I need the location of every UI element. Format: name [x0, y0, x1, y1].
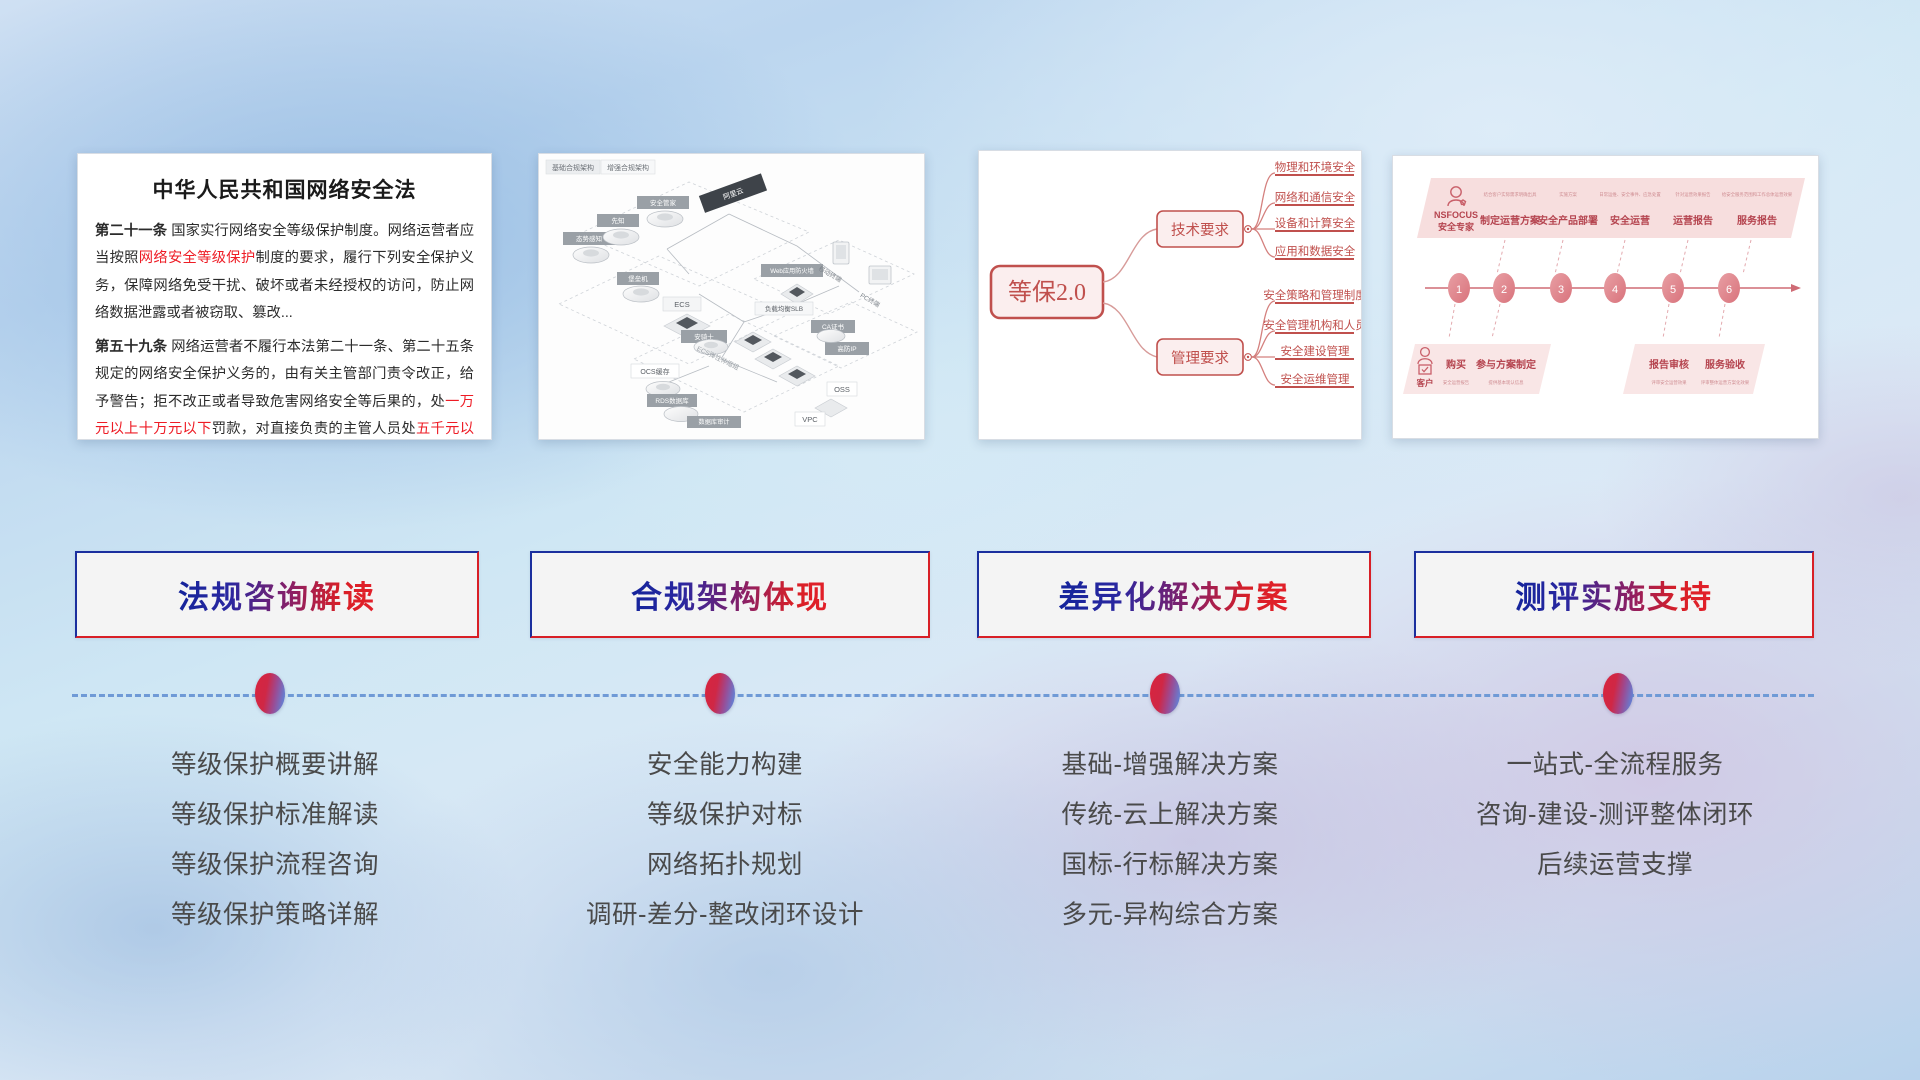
- law-article-59: 第五十九条 网络运营者不履行本法第二十一条、第二十五条规定的网络安全保护义务的，…: [95, 334, 474, 440]
- list-item: 安全能力构建: [505, 740, 945, 790]
- svg-text:ECS: ECS: [674, 300, 689, 309]
- article-21-label: 第二十一条: [95, 223, 167, 239]
- top-caption-5: 给安全服务范围和工作总体运营效果: [1722, 191, 1793, 198]
- svg-text:RDS数据库: RDS数据库: [655, 396, 689, 405]
- card-cybersecurity-law[interactable]: 中华人民共和国网络安全法 第二十一条 国家实行网络安全等级保护制度。网络运营者应…: [77, 153, 492, 440]
- detail-column-4: 一站式-全流程服务 咨询-建设-测评整体闭环 后续运营支撑: [1400, 740, 1830, 890]
- architecture-diagram: 基础合规架构 增强合规架构 阿里云 态: [539, 154, 924, 439]
- svg-text:先知: 先知: [612, 216, 625, 225]
- timeline-dot-2[interactable]: [705, 673, 735, 714]
- mindmap-leaf-policy: 安全策略和管理制度: [1263, 288, 1361, 302]
- svg-text:负载均衡SLB: 负载均衡SLB: [765, 304, 803, 313]
- list-item: 咨询-建设-测评整体闭环: [1400, 790, 1830, 840]
- list-item: 一站式-全流程服务: [1400, 740, 1830, 790]
- dashed-timeline: [72, 694, 1814, 697]
- timeline-dot-4[interactable]: [1603, 673, 1633, 714]
- law-title: 中华人民共和国网络安全法: [95, 174, 474, 204]
- node-database-audit: 数据库审计: [687, 416, 741, 428]
- detail-column-2: 安全能力构建 等级保护对标 网络拓扑规划 调研-差分-整改闭环设计: [505, 740, 945, 940]
- top-caption-4: 针对运营效果报告: [1675, 191, 1711, 198]
- card-compliance-architecture[interactable]: 基础合规架构 增强合规架构 阿里云 态: [538, 153, 925, 440]
- tab-enhanced-architecture: 增强合规架构: [607, 163, 649, 172]
- top-caption-2: 实施方案: [1559, 191, 1577, 198]
- bottom-step-4: 服务验收: [1705, 358, 1745, 371]
- headline-box-2[interactable]: 合规架构体现: [530, 551, 930, 638]
- headline-label-3: 差异化解决方案: [1059, 572, 1290, 617]
- detail-column-1: 等级保护概要讲解 等级保护标准解读 等级保护流程咨询 等级保护策略详解: [60, 740, 490, 940]
- headline-box-4[interactable]: 测评实施支持: [1414, 551, 1814, 638]
- svg-text:VPC: VPC: [802, 415, 818, 424]
- expert-banner: [1417, 178, 1805, 238]
- svg-text:OCS缓存: OCS缓存: [640, 367, 669, 376]
- svg-text:技术要求: 技术要求: [1171, 222, 1229, 239]
- top-step-4: 运营报告: [1673, 214, 1713, 227]
- bottom-step-3: 报告审核: [1649, 358, 1689, 371]
- step-number-5: 5: [1670, 284, 1676, 296]
- mindmap-leaf-physical: 物理和环境安全: [1275, 160, 1356, 174]
- top-caption-3: 日常运维、安全事件、应急处置: [1599, 191, 1661, 198]
- law-article-21: 第二十一条 国家实行网络安全等级保护制度。网络运营者应当按照网络安全等级保护制度…: [95, 218, 474, 328]
- bottom-step-2: 参与方案制定: [1476, 358, 1536, 371]
- service-process-diagram: NSFOCUS 安全专家 结合客户实际需求明确出具 实施方案 日常运维、安全事件…: [1393, 156, 1818, 438]
- step-number-2: 2: [1501, 284, 1507, 296]
- bottom-caption-2: 提供基本现认信息: [1488, 379, 1524, 386]
- mindmap-diagram: 等保2.0 技术要求: [979, 151, 1361, 439]
- step-number-4: 4: [1612, 284, 1618, 296]
- article-59-mid: 罚款，对直接负责的主管人员处: [212, 421, 416, 437]
- svg-text:管理要求: 管理要求: [1171, 350, 1229, 367]
- expert-brand: NSFOCUS: [1434, 210, 1478, 220]
- svg-text:数据库审计: 数据库审计: [699, 418, 730, 426]
- top-step-3: 安全运营: [1610, 214, 1650, 227]
- list-item: 基础-增强解决方案: [950, 740, 1390, 790]
- headline-label-1: 法规咨询解读: [178, 572, 376, 617]
- list-item: 国标-行标解决方案: [950, 840, 1390, 890]
- svg-text:态势感知: 态势感知: [576, 234, 602, 243]
- svg-text:高防IP: 高防IP: [837, 344, 856, 353]
- step-number-6: 6: [1726, 284, 1732, 296]
- list-item: 调研-差分-整改闭环设计: [505, 890, 945, 940]
- headline-box-1[interactable]: 法规咨询解读: [75, 551, 479, 638]
- list-item: 等级保护对标: [505, 790, 945, 840]
- article-59-label: 第五十九条: [95, 339, 167, 355]
- mindmap-leaf-application: 应用和数据安全: [1275, 244, 1356, 258]
- bottom-step-1: 购买: [1446, 358, 1466, 371]
- list-item: 等级保护概要讲解: [60, 740, 490, 790]
- bottom-caption-1: 安全运营报告: [1443, 379, 1470, 386]
- customer-role: 客户: [1415, 378, 1433, 388]
- top-step-2: 安全产品部署: [1538, 214, 1598, 227]
- mindmap-leaf-device: 设备和计算安全: [1275, 216, 1356, 230]
- tab-basic-architecture: 基础合规架构: [552, 163, 594, 172]
- timeline-dot-1[interactable]: [255, 673, 285, 714]
- card-mindmap-dengbao[interactable]: 等保2.0 技术要求: [978, 150, 1362, 440]
- mindmap-leaf-ops: 安全运维管理: [1281, 372, 1350, 386]
- list-item: 网络拓扑规划: [505, 840, 945, 890]
- svg-text:Web应用防火墙: Web应用防火墙: [770, 267, 814, 275]
- headline-label-2: 合规架构体现: [631, 572, 829, 617]
- expert-role: 安全专家: [1438, 221, 1475, 232]
- svg-text:堡垒机: 堡垒机: [628, 274, 648, 283]
- node-vpc: VPC: [795, 412, 825, 426]
- list-item: 等级保护标准解读: [60, 790, 490, 840]
- card-service-timeline[interactable]: NSFOCUS 安全专家 结合客户实际需求明确出具 实施方案 日常运维、安全事件…: [1392, 155, 1819, 439]
- article-21-highlight: 网络安全等级保护: [139, 250, 256, 266]
- timeline-dot-3[interactable]: [1150, 673, 1180, 714]
- list-item: 等级保护策略详解: [60, 890, 490, 940]
- list-item: 传统-云上解决方案: [950, 790, 1390, 840]
- list-item: 等级保护流程咨询: [60, 840, 490, 890]
- bottom-caption-3: 评审安全运营效果: [1651, 379, 1687, 386]
- svg-text:OSS: OSS: [834, 385, 850, 394]
- mindmap-leaf-network: 网络和通信安全: [1275, 190, 1356, 204]
- top-step-5: 服务报告: [1737, 214, 1777, 227]
- node-slb: 负载均衡SLB: [755, 302, 813, 315]
- list-item: 多元-异构综合方案: [950, 890, 1390, 940]
- list-item: 后续运营支撑: [1400, 840, 1830, 890]
- step-number-3: 3: [1558, 284, 1564, 296]
- svg-text:等保2.0: 等保2.0: [1008, 279, 1086, 306]
- top-step-1: 制定运营方案: [1480, 214, 1541, 227]
- step-number-1: 1: [1456, 284, 1462, 296]
- detail-column-3: 基础-增强解决方案 传统-云上解决方案 国标-行标解决方案 多元-异构综合方案: [950, 740, 1390, 940]
- bottom-caption-4: 评审整体运营方案化效果: [1701, 379, 1750, 386]
- headline-box-3[interactable]: 差异化解决方案: [977, 551, 1371, 638]
- mindmap-leaf-construction: 安全建设管理: [1281, 344, 1350, 358]
- top-caption-1: 结合客户实际需求明确出具: [1484, 191, 1537, 198]
- headline-label-4: 测评实施支持: [1515, 572, 1713, 617]
- svg-text:安全管家: 安全管家: [650, 198, 677, 207]
- mindmap-leaf-org: 安全管理机构和人员: [1263, 318, 1361, 332]
- mindmap-root: 等保2.0: [991, 266, 1103, 318]
